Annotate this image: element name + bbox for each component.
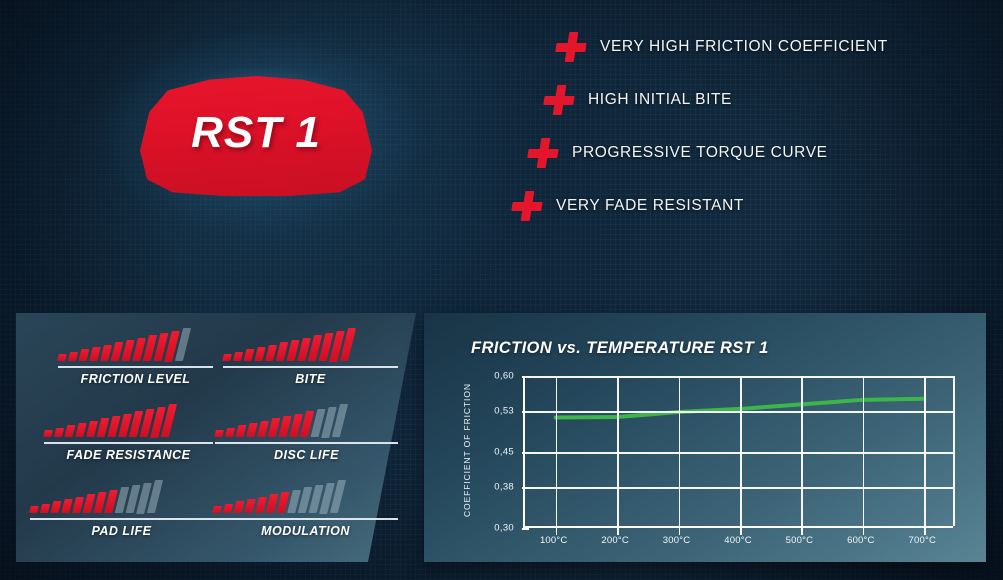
chart-y-tick-labels: 0,300,380,450,530,60 <box>480 373 514 531</box>
chart-y-tickmark <box>522 411 529 413</box>
rating-segment <box>233 352 243 361</box>
feature-item: HIGH INITIAL BITE <box>508 85 978 115</box>
rating-label: DISC LIFE <box>215 448 398 462</box>
rating-friction-level: FRICTION LEVEL <box>28 327 213 403</box>
rating-bars <box>223 327 398 361</box>
chart-gridline-vertical <box>863 376 865 526</box>
chart-gridline-horizontal <box>525 487 953 489</box>
rating-bars <box>58 327 213 361</box>
rating-disc-life: DISC LIFE <box>213 403 398 479</box>
chart-x-tickmark <box>863 528 865 535</box>
rating-label: BITE <box>223 372 398 386</box>
plus-icon <box>554 32 589 62</box>
rating-rule <box>30 518 213 520</box>
rating-rule <box>213 518 398 520</box>
feature-label: HIGH INITIAL BITE <box>588 91 732 109</box>
rating-segment <box>75 423 87 437</box>
chart-gridline-horizontal <box>525 452 953 454</box>
rating-bars <box>215 403 398 437</box>
feature-label: PROGRESSIVE TORQUE CURVE <box>572 144 828 162</box>
ratings-grid: FRICTION LEVEL BITE FADE RESISTANCE DISC… <box>28 327 398 555</box>
chart-y-tickmark <box>522 452 529 454</box>
chart-x-tickmark <box>679 528 681 535</box>
chart-y-tick-label: 0,38 <box>494 482 514 493</box>
chart-gridline-vertical <box>679 376 681 526</box>
rating-segment <box>54 428 64 437</box>
rating-pad-life: PAD LIFE <box>28 479 213 555</box>
chart-gridline-horizontal <box>525 411 953 413</box>
rating-bars <box>30 479 213 513</box>
chart-y-tick-label: 0,45 <box>494 447 514 458</box>
rating-segment <box>236 425 247 437</box>
chart-y-axis-label: COEFFICIENT OF FRICTION <box>462 375 476 525</box>
rating-label: FADE RESISTANCE <box>44 448 213 462</box>
plus-icon <box>510 191 545 221</box>
chart-y-tickmark <box>522 528 529 530</box>
rating-segment <box>79 349 90 361</box>
chart-x-tick-label: 100°C <box>540 535 568 546</box>
chart-gridline-vertical <box>556 376 558 526</box>
chart-x-tickmark <box>924 528 926 535</box>
rating-segment <box>65 425 76 437</box>
rating-modulation: MODULATION <box>213 479 398 555</box>
chart-x-tickmark <box>740 528 742 535</box>
chart-x-tick-label: 200°C <box>601 535 629 546</box>
feature-item: VERY FADE RESISTANT <box>508 191 978 221</box>
rating-segment <box>68 352 78 361</box>
chart-title: FRICTION vs. TEMPERATURE RST 1 <box>471 339 769 358</box>
product-logo: RST 1 <box>96 34 426 234</box>
rating-label: FRICTION LEVEL <box>58 372 213 386</box>
chart-gridline-vertical <box>801 376 803 526</box>
plus-icon <box>542 85 577 115</box>
chart-x-tick-label: 400°C <box>724 535 752 546</box>
rating-segment <box>51 501 62 513</box>
chart-x-tick-label: 500°C <box>786 535 814 546</box>
rating-segment <box>57 354 67 361</box>
chart-x-tick-label: 700°C <box>909 535 937 546</box>
rating-segment <box>43 430 53 437</box>
feature-label: VERY FADE RESISTANT <box>556 197 744 215</box>
chart-y-tick-label: 0,60 <box>494 371 514 382</box>
chart-x-tick-label: 600°C <box>847 535 875 546</box>
rating-segment <box>223 504 233 513</box>
chart-x-tickmark <box>617 528 619 535</box>
rating-bite: BITE <box>213 327 398 403</box>
chart-gridline-vertical <box>924 376 926 526</box>
chart-plot-area <box>523 376 953 528</box>
rating-segment <box>254 347 266 361</box>
rating-segment <box>244 349 255 361</box>
feature-label: VERY HIGH FRICTION COEFFICIENT <box>600 38 888 56</box>
rating-segment <box>40 504 50 513</box>
chart-gridline-vertical <box>740 376 742 526</box>
logo-label: RST 1 <box>140 76 372 196</box>
chart-x-tick-labels: 100°C200°C300°C400°C500°C600°C700°C <box>523 535 953 549</box>
chart-x-tick-label: 300°C <box>663 535 691 546</box>
rating-bars <box>44 403 213 437</box>
rating-segment <box>89 347 101 361</box>
chart-x-tickmark <box>801 528 803 535</box>
chart-y-tickmark <box>522 376 529 378</box>
plus-icon <box>526 138 561 168</box>
chart-y-tick-label: 0,53 <box>494 406 514 417</box>
feature-item: PROGRESSIVE TORQUE CURVE <box>508 138 978 168</box>
rating-segment <box>222 354 232 361</box>
rating-segment <box>212 506 222 513</box>
feature-list: VERY HIGH FRICTION COEFFICIENT HIGH INIT… <box>508 32 978 244</box>
rating-label: PAD LIFE <box>30 524 213 538</box>
chart-y-tickmark <box>522 487 529 489</box>
chart-y-tick-label: 0,30 <box>494 523 514 534</box>
rating-bars <box>213 479 398 513</box>
rating-fade-resistance: FADE RESISTANCE <box>28 403 213 479</box>
rating-rule <box>44 442 213 444</box>
rating-segment <box>225 428 235 437</box>
chart-gridline-horizontal <box>525 376 953 378</box>
rating-segment <box>246 423 258 437</box>
chart-gridline-vertical <box>953 376 955 526</box>
rating-rule <box>215 442 398 444</box>
rating-label: MODULATION <box>213 524 398 538</box>
feature-item: VERY HIGH FRICTION COEFFICIENT <box>508 32 978 62</box>
rating-segment <box>244 499 256 513</box>
rating-rule <box>58 366 213 368</box>
rating-rule <box>223 366 398 368</box>
chart-panel: FRICTION vs. TEMPERATURE RST 1 COEFFICIE… <box>424 313 986 562</box>
rating-segment <box>61 499 73 513</box>
rating-segment <box>214 430 224 437</box>
rating-segment <box>234 501 245 513</box>
chart-x-tickmark <box>556 528 558 535</box>
chart-gridline-vertical <box>617 376 619 526</box>
rating-segment <box>29 506 39 513</box>
